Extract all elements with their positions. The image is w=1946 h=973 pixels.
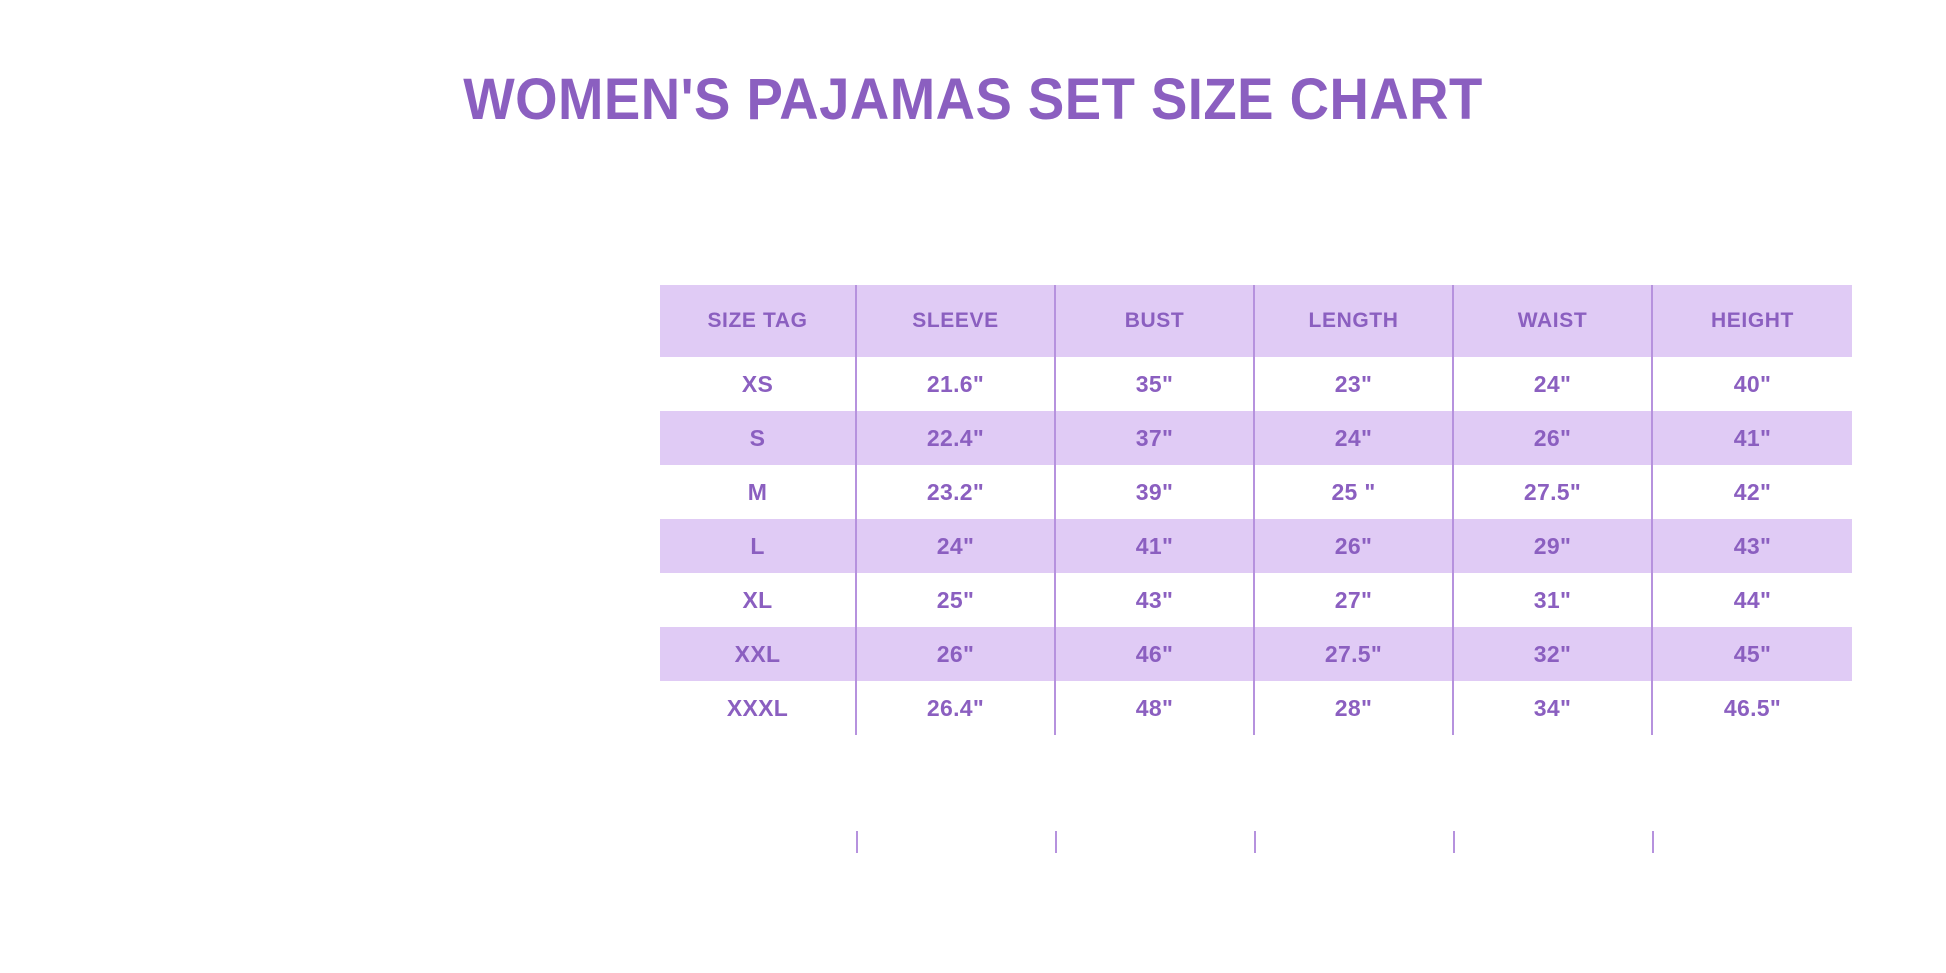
size-chart-table-container: SIZE TAG SLEEVE BUST LENGTH WAIST HEIGHT… (660, 285, 1852, 735)
column-header-size-tag: SIZE TAG (660, 285, 856, 357)
cell-height: 40" (1652, 357, 1852, 411)
cell-bust: 43" (1055, 573, 1254, 627)
table-header: SIZE TAG SLEEVE BUST LENGTH WAIST HEIGHT (660, 285, 1852, 357)
cell-sleeve: 25" (856, 573, 1055, 627)
page-title: WOMEN'S PAJAMAS SET SIZE CHART (58, 66, 1887, 134)
column-divider-tail (1652, 831, 1654, 853)
cell-size-tag: XL (660, 573, 856, 627)
size-chart-table: SIZE TAG SLEEVE BUST LENGTH WAIST HEIGHT… (660, 285, 1852, 735)
cell-waist: 31" (1453, 573, 1652, 627)
column-divider-tails (660, 831, 1852, 853)
cell-sleeve: 23.2" (856, 465, 1055, 519)
column-header-height: HEIGHT (1652, 285, 1852, 357)
table-row: S 22.4" 37" 24" 26" 41" (660, 411, 1852, 465)
table-row: L 24" 41" 26" 29" 43" (660, 519, 1852, 573)
cell-waist: 29" (1453, 519, 1652, 573)
cell-sleeve: 21.6" (856, 357, 1055, 411)
cell-size-tag: XS (660, 357, 856, 411)
cell-length: 24" (1254, 411, 1453, 465)
cell-height: 46.5" (1652, 681, 1852, 735)
cell-bust: 37" (1055, 411, 1254, 465)
cell-waist: 34" (1453, 681, 1652, 735)
cell-sleeve: 26.4" (856, 681, 1055, 735)
cell-bust: 41" (1055, 519, 1254, 573)
cell-length: 28" (1254, 681, 1453, 735)
table-row: XXXL 26.4" 48" 28" 34" 46.5" (660, 681, 1852, 735)
cell-length: 27.5" (1254, 627, 1453, 681)
cell-waist: 24" (1453, 357, 1652, 411)
table-row: XS 21.6" 35" 23" 24" 40" (660, 357, 1852, 411)
cell-height: 45" (1652, 627, 1852, 681)
table-row: M 23.2" 39" 25 " 27.5" 42" (660, 465, 1852, 519)
column-header-sleeve: SLEEVE (856, 285, 1055, 357)
cell-length: 23" (1254, 357, 1453, 411)
cell-size-tag: XXXL (660, 681, 856, 735)
column-divider-tail (1055, 831, 1057, 853)
cell-bust: 48" (1055, 681, 1254, 735)
cell-size-tag: XXL (660, 627, 856, 681)
cell-bust: 39" (1055, 465, 1254, 519)
column-header-length: LENGTH (1254, 285, 1453, 357)
cell-sleeve: 26" (856, 627, 1055, 681)
cell-length: 27" (1254, 573, 1453, 627)
cell-waist: 27.5" (1453, 465, 1652, 519)
cell-waist: 32" (1453, 627, 1652, 681)
column-header-bust: BUST (1055, 285, 1254, 357)
cell-length: 26" (1254, 519, 1453, 573)
column-divider-tail (856, 831, 858, 853)
cell-sleeve: 22.4" (856, 411, 1055, 465)
size-chart-page: WOMEN'S PAJAMAS SET SIZE CHART SIZE TAG … (0, 0, 1946, 973)
cell-height: 43" (1652, 519, 1852, 573)
column-divider-tail (1453, 831, 1455, 853)
cell-length: 25 " (1254, 465, 1453, 519)
table-row: XXL 26" 46" 27.5" 32" 45" (660, 627, 1852, 681)
column-header-waist: WAIST (1453, 285, 1652, 357)
cell-height: 41" (1652, 411, 1852, 465)
cell-height: 42" (1652, 465, 1852, 519)
table-body: XS 21.6" 35" 23" 24" 40" S 22.4" 37" 24"… (660, 357, 1852, 735)
cell-waist: 26" (1453, 411, 1652, 465)
cell-size-tag: M (660, 465, 856, 519)
column-divider-tail (1254, 831, 1256, 853)
cell-sleeve: 24" (856, 519, 1055, 573)
cell-bust: 35" (1055, 357, 1254, 411)
cell-size-tag: L (660, 519, 856, 573)
table-header-row: SIZE TAG SLEEVE BUST LENGTH WAIST HEIGHT (660, 285, 1852, 357)
cell-bust: 46" (1055, 627, 1254, 681)
cell-size-tag: S (660, 411, 856, 465)
table-row: XL 25" 43" 27" 31" 44" (660, 573, 1852, 627)
cell-height: 44" (1652, 573, 1852, 627)
